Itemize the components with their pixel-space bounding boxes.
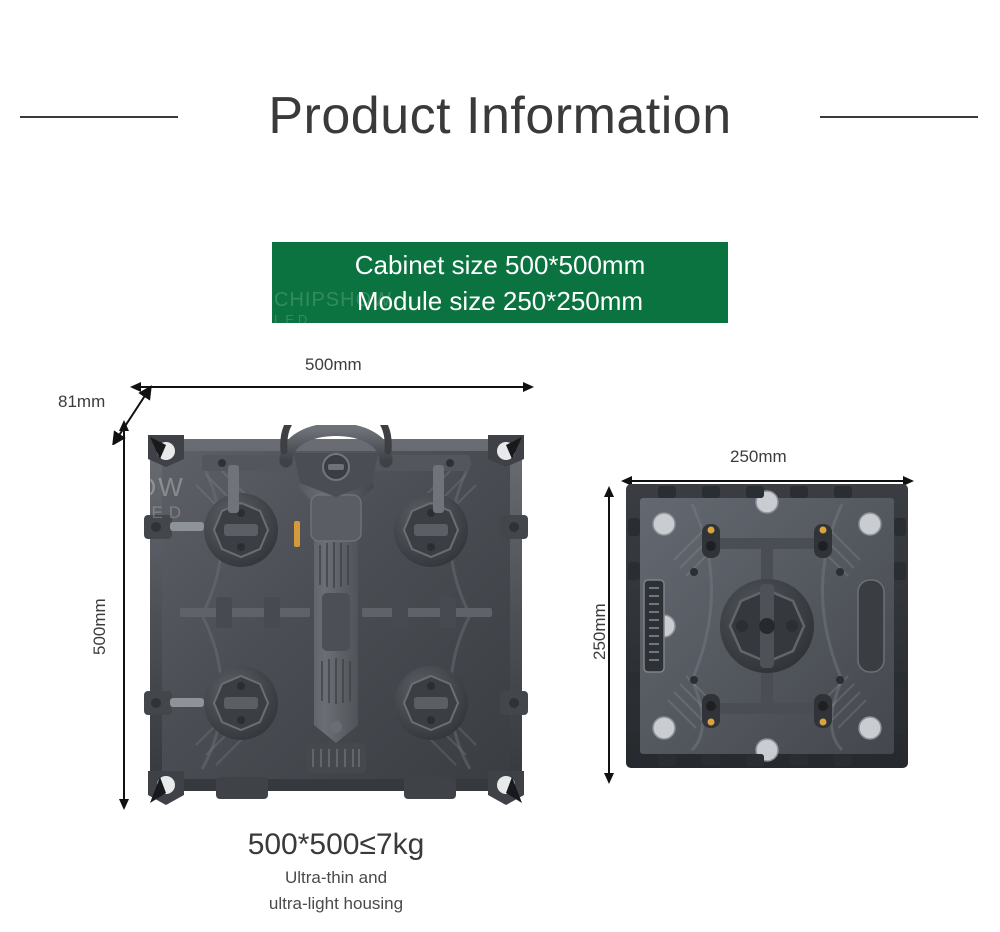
cabinet-caption-line1: Ultra-thin and	[136, 865, 536, 891]
title-rule-right	[820, 116, 978, 118]
cabinet-width-arrow-line	[141, 386, 523, 388]
cabinet-depth-label: 81mm	[58, 392, 105, 412]
cabinet-height-arrow-line	[123, 431, 125, 799]
cabinet-caption-line2: ultra-light housing	[136, 891, 536, 917]
module-height-arrowhead-top	[604, 486, 614, 497]
spec-banner: CHIPSHOW LED Cabinet size 500*500mm Modu…	[272, 242, 728, 323]
module-product-image	[622, 480, 912, 772]
page-header: Product Information	[0, 0, 1000, 190]
module-height-arrowhead-bottom	[604, 773, 614, 784]
cabinet-height-label: 500mm	[90, 598, 110, 655]
module-width-label: 250mm	[730, 447, 787, 467]
module-height-label: 250mm	[590, 603, 610, 660]
cabinet-height-arrowhead-bottom	[119, 799, 129, 810]
spec-cabinet-size: Cabinet size 500*500mm	[355, 247, 646, 283]
figures-area: 81mm 500mm 500mm	[0, 330, 1000, 932]
cabinet-width-label: 500mm	[305, 355, 362, 375]
cabinet-weight-label: 500*500≤7kg	[136, 825, 536, 865]
cabinet-width-arrowhead-right	[523, 382, 534, 392]
module-height-arrow-line	[608, 497, 610, 773]
cabinet-height-arrowhead-top	[119, 420, 129, 431]
cabinet-product-image	[136, 425, 536, 815]
cabinet-width-arrowhead-left	[130, 382, 141, 392]
spec-module-size: Module size 250*250mm	[357, 283, 643, 319]
cabinet-caption: 500*500≤7kg Ultra-thin and ultra-light h…	[136, 825, 536, 917]
